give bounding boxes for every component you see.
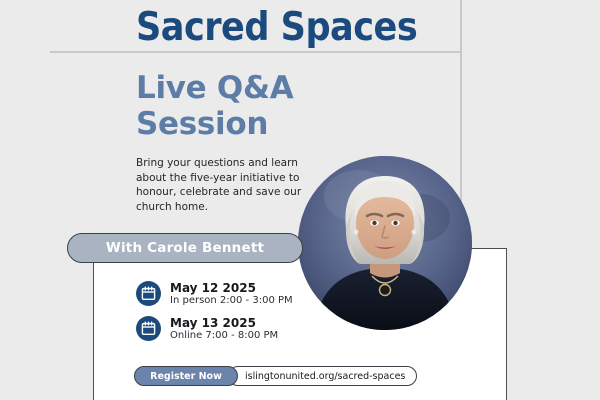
website-url-pill[interactable]: islingtonunited.org/sacred-spaces	[228, 366, 417, 386]
page-subtitle: Live Q&A Session	[136, 70, 386, 142]
register-button-label: Register Now	[150, 371, 222, 382]
event-date: May 12 2025	[170, 281, 293, 295]
calendar-icon	[136, 316, 161, 341]
event-details: Online 7:00 - 8:00 PM	[170, 330, 278, 342]
speaker-name-label: With Carole Bennett	[106, 240, 264, 256]
website-url-label: islingtonunited.org/sacred-spaces	[245, 371, 405, 382]
speaker-name-pill: With Carole Bennett	[67, 233, 303, 263]
description-text: Bring your questions and learn about the…	[136, 156, 304, 214]
event-date: May 13 2025	[170, 316, 278, 330]
list-item: May 12 2025 In person 2:00 - 3:00 PM	[136, 281, 293, 307]
cta-group: Register Now islingtonunited.org/sacred-…	[134, 366, 417, 386]
speaker-portrait	[298, 156, 472, 330]
register-button[interactable]: Register Now	[134, 366, 238, 386]
calendar-icon	[136, 281, 161, 306]
poster-canvas: Sacred Spaces Live Q&A Session Bring you…	[0, 0, 600, 400]
list-item: May 13 2025 Online 7:00 - 8:00 PM	[136, 316, 293, 342]
event-date-list: May 12 2025 In person 2:00 - 3:00 PM May…	[136, 281, 293, 351]
page-title: Sacred Spaces	[136, 6, 466, 50]
decorative-horizontal-rule	[50, 51, 462, 53]
event-details: In person 2:00 - 3:00 PM	[170, 295, 293, 307]
